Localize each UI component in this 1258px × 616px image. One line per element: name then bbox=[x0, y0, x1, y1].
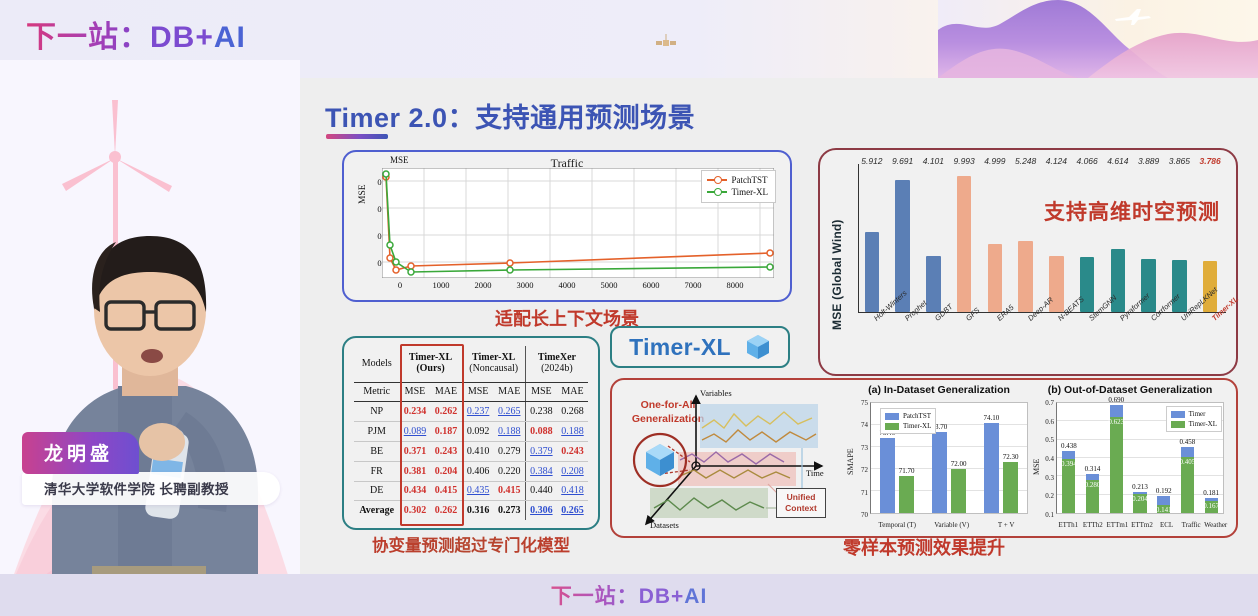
traffic-xtick: 3000 bbox=[510, 280, 540, 290]
bar bbox=[951, 469, 967, 513]
traffic-xtick: 5000 bbox=[594, 280, 624, 290]
table-row: NP0.2340.2620.2370.2650.2380.268 bbox=[354, 402, 588, 422]
wind-bar-value: 9.993 bbox=[953, 156, 974, 166]
wind-x-label: UniRepLKNet bbox=[1168, 314, 1192, 368]
wind-x-label: Holt-Winters bbox=[860, 314, 884, 368]
caption-table: 协变量预测超过专门化模型 bbox=[336, 532, 606, 558]
y-tick-label: 0.5 bbox=[1034, 436, 1054, 444]
cube-icon bbox=[745, 333, 771, 361]
bar-value-timer: 0.192 bbox=[1150, 487, 1177, 495]
wind-bar-value: 4.124 bbox=[1046, 156, 1067, 166]
bar-value-timerxl: 0.405 bbox=[1174, 458, 1201, 466]
y-tick-label: 0.3 bbox=[1034, 474, 1054, 482]
table-row: PJM0.0890.1870.0920.1880.0880.188 bbox=[354, 422, 588, 442]
timer-xl-badge-label: Timer-XL bbox=[629, 334, 731, 361]
wind-x-label: Pyraformer bbox=[1106, 314, 1130, 368]
y-tick-label: 73 bbox=[848, 444, 868, 452]
bar bbox=[984, 423, 1000, 513]
table-metric-row: MetricMSEMAEMSEMAEMSEMAE bbox=[354, 382, 588, 402]
table-cell: 0.268 bbox=[557, 402, 588, 422]
bar-value-timerxl: 0.280 bbox=[1079, 481, 1106, 489]
table-cell: 0.188 bbox=[494, 422, 526, 442]
bar bbox=[932, 432, 948, 513]
wind-bar-value: 4.101 bbox=[923, 156, 944, 166]
event-logo-bottom: 下一站：DB+AI bbox=[551, 580, 708, 610]
unified-line2: Context bbox=[785, 503, 817, 513]
traffic-xtick: 0 bbox=[385, 280, 415, 290]
table-row-label: NP bbox=[354, 402, 399, 422]
table-cell: 0.237 bbox=[462, 402, 494, 422]
y-tick-label: 71 bbox=[848, 489, 868, 497]
traffic-xtick: 1000 bbox=[426, 280, 456, 290]
speaker-name: 龙明盛 bbox=[22, 432, 139, 474]
mountain-decoration bbox=[938, 0, 1258, 78]
table-cell: 0.406 bbox=[462, 461, 494, 481]
table-metric-label: Metric bbox=[354, 382, 399, 402]
logo-text-ai: AI bbox=[214, 21, 246, 54]
in-dataset-title: (a) In-Dataset Generalization bbox=[844, 384, 1034, 396]
in-dataset-legend: PatchTST Timer-XL bbox=[880, 408, 936, 434]
in-dataset-chart: (a) In-Dataset Generalization SMAPE 73.4… bbox=[844, 384, 1034, 536]
wind-bar-value: 3.786 bbox=[1199, 156, 1220, 166]
table-cell: 0.379 bbox=[525, 441, 557, 461]
wind-bar: 3.865 bbox=[1168, 168, 1192, 312]
table-cell: 0.265 bbox=[557, 501, 588, 520]
results-table-panel: ModelsTimer-XL(Ours)Timer-XL(Noncausal)T… bbox=[342, 336, 600, 530]
table-header-group: Timer-XL(Noncausal) bbox=[462, 346, 525, 382]
table-cell: 0.238 bbox=[525, 402, 557, 422]
y-tick-label: 72 bbox=[848, 466, 868, 474]
timer-xl-badge[interactable]: Timer-XL bbox=[610, 326, 790, 368]
unified-context-box: Unified Context bbox=[776, 488, 826, 518]
wind-bar-rect bbox=[865, 232, 880, 312]
y-tick-label: 70 bbox=[848, 511, 868, 519]
wind-bar-value: 4.066 bbox=[1076, 156, 1097, 166]
unified-line1: Unified bbox=[787, 492, 816, 502]
wind-bar-rect bbox=[1018, 241, 1033, 312]
legend-swatch-timerxl bbox=[885, 423, 899, 430]
table-cell: 0.220 bbox=[494, 461, 526, 481]
y-tick-label: 0.2 bbox=[1034, 492, 1054, 500]
table-metric-header: MSE bbox=[525, 382, 557, 402]
logo-text-plus: + bbox=[195, 21, 214, 54]
bar-value-timer: 0.213 bbox=[1127, 483, 1154, 491]
bar-value: 71.70 bbox=[890, 467, 924, 475]
table-row-label: FR bbox=[354, 461, 399, 481]
one-for-all-diagram: One-for-All Generalization bbox=[616, 384, 840, 534]
table-metric-header: MSE bbox=[462, 382, 494, 402]
wind-bar: 4.066 bbox=[1075, 168, 1099, 312]
table-cell: 0.243 bbox=[430, 441, 462, 461]
table-cell: 0.273 bbox=[494, 501, 526, 520]
wind-bar-value: 5.912 bbox=[861, 156, 882, 166]
traffic-y-caption: MSE bbox=[390, 155, 409, 165]
table-row: FR0.3810.2040.4060.2200.3840.208 bbox=[354, 461, 588, 481]
table-cell: 0.302 bbox=[399, 501, 430, 520]
legend-swatch-timerxl bbox=[1171, 421, 1185, 428]
legend-label-patchtst: PatchTST bbox=[903, 411, 931, 421]
wind-bar-rect bbox=[957, 176, 972, 312]
out-of-dataset-chart: (b) Out-of-Dataset Generalization MSE 0.… bbox=[1030, 384, 1230, 536]
bar-value-timer: 0.438 bbox=[1056, 442, 1083, 450]
speaker-video bbox=[0, 60, 300, 616]
table-row-label: PJM bbox=[354, 422, 399, 442]
presentation-slide: Timer 2.0：支持通用预测场景 Traffic MSE MSE 0.7 0… bbox=[300, 78, 1258, 574]
airplane-icon bbox=[1113, 8, 1153, 26]
wind-bars: 5.9129.6914.1019.9934.9995.2484.1244.066… bbox=[860, 168, 1222, 312]
traffic-xtick: 7000 bbox=[678, 280, 708, 290]
bar-value-timerxl: 0.204 bbox=[1127, 495, 1154, 503]
traffic-chart-panel: Traffic MSE MSE 0.7 0.6 0.5 0.4 0 1000 2… bbox=[342, 150, 792, 302]
screen: 下一站：DB+AI 龙明盛 清华大学软件学院 长聘副教授 Timer 2.0：支… bbox=[0, 0, 1258, 616]
table-header-group: Timer-XL(Ours) bbox=[399, 346, 462, 382]
wind-bar-value: 9.691 bbox=[892, 156, 913, 166]
results-table: ModelsTimer-XL(Ours)Timer-XL(Noncausal)T… bbox=[354, 346, 588, 520]
wind-y-axis-label: MSE (Global Wind) bbox=[830, 219, 844, 330]
table-cell: 0.384 bbox=[525, 461, 557, 481]
slide-title: Timer 2.0：支持通用预测场景 bbox=[325, 96, 695, 135]
wind-x-label: ERA5 bbox=[983, 314, 1007, 368]
gridline bbox=[1057, 475, 1223, 476]
table-row: DE0.4340.4150.4350.4150.4400.418 bbox=[354, 481, 588, 501]
wind-x-label: Corrformer bbox=[1137, 314, 1161, 368]
table-cell: 0.434 bbox=[399, 481, 430, 501]
wind-x-label: N-BEATS bbox=[1045, 314, 1069, 368]
wind-bar-value: 3.865 bbox=[1169, 156, 1190, 166]
legend-swatch-patchtst bbox=[885, 413, 899, 420]
wind-plot-area: 5.9129.6914.1019.9934.9995.2484.1244.066… bbox=[860, 168, 1222, 312]
bar-value-timerxl: 0.623 bbox=[1103, 418, 1130, 426]
table-metric-header: MAE bbox=[430, 382, 462, 402]
wind-bar-rect bbox=[988, 244, 1003, 312]
wind-bar-value: 3.889 bbox=[1138, 156, 1159, 166]
x-tick-label: Variable (V) bbox=[929, 521, 975, 529]
bar-value: 74.10 bbox=[974, 414, 1008, 422]
logo-text-db: DB bbox=[150, 21, 195, 54]
ofa-axis-datasets: Datasets bbox=[650, 520, 679, 530]
table-header-models: Models bbox=[354, 346, 399, 382]
wind-x-label: Timer-XL bbox=[1198, 314, 1222, 368]
table-cell: 0.279 bbox=[494, 441, 526, 461]
traffic-xtick: 8000 bbox=[720, 280, 750, 290]
bar-value-timer: 0.181 bbox=[1198, 489, 1225, 497]
bar-value-timerxl: 0.141 bbox=[1150, 506, 1177, 514]
table-cell: 0.435 bbox=[462, 481, 494, 501]
ofa-axis-time: Time bbox=[806, 468, 824, 478]
bar bbox=[1003, 462, 1019, 513]
footer-logo-ai: AI bbox=[684, 585, 707, 608]
traffic-legend: PatchTST Timer-XL bbox=[701, 170, 777, 203]
footer-logo-db: DB bbox=[639, 585, 671, 608]
y-tick-label: 0.6 bbox=[1034, 418, 1054, 426]
traffic-y-axis-label: MSE bbox=[358, 184, 368, 204]
wind-x-label: GDBT bbox=[922, 314, 946, 368]
bar bbox=[880, 438, 896, 513]
y-tick-label: 75 bbox=[848, 399, 868, 407]
bar bbox=[899, 476, 915, 513]
table-metric-header: MAE bbox=[557, 382, 588, 402]
wind-bar: 4.101 bbox=[922, 168, 946, 312]
table-cell: 0.418 bbox=[557, 481, 588, 501]
footer-logo-cn: 下一站： bbox=[551, 585, 639, 608]
table-cell: 0.234 bbox=[399, 402, 430, 422]
legend-label-timerxl: Timer-XL bbox=[732, 186, 769, 198]
legend-label-timerxl: Timer-XL bbox=[903, 421, 931, 431]
logo-text-cn: 下一站： bbox=[26, 21, 150, 54]
speaker-nameplate: 龙明盛 清华大学软件学院 长聘副教授 bbox=[22, 432, 282, 505]
table-cell: 0.415 bbox=[430, 481, 462, 501]
table-cell: 0.371 bbox=[399, 441, 430, 461]
table-cell: 0.088 bbox=[525, 422, 557, 442]
legend-label-timer: Timer bbox=[1189, 409, 1206, 419]
satellite-icon bbox=[655, 34, 677, 52]
x-tick-label: Weather bbox=[1193, 521, 1239, 529]
wind-x-labels: Holt-WintersProphetGDBTGFSERA5Deep-ARN-B… bbox=[860, 314, 1222, 368]
legend-swatch-patchtst bbox=[707, 179, 727, 181]
zeroshot-panel: One-for-All Generalization bbox=[610, 378, 1238, 538]
table-cell: 0.089 bbox=[399, 422, 430, 442]
wind-bar: 4.999 bbox=[983, 168, 1007, 312]
wind-y-axis bbox=[858, 164, 859, 313]
table-row: BE0.3710.2430.4100.2790.3790.243 bbox=[354, 441, 588, 461]
footer-logo-plus: + bbox=[671, 585, 684, 608]
table-cell: 0.204 bbox=[430, 461, 462, 481]
table-cell: 0.316 bbox=[462, 501, 494, 520]
wind-bar: 4.614 bbox=[1106, 168, 1130, 312]
legend-label-patchtst: PatchTST bbox=[732, 174, 768, 186]
wind-bar: 4.124 bbox=[1045, 168, 1069, 312]
event-logo-top: 下一站：DB+AI bbox=[26, 12, 246, 56]
x-tick-label: T + V bbox=[983, 521, 1029, 529]
table-cell: 0.265 bbox=[494, 402, 526, 422]
table-row-label: BE bbox=[354, 441, 399, 461]
bar-timerxl bbox=[1110, 417, 1123, 513]
table-cell: 0.208 bbox=[557, 461, 588, 481]
bar-value-timerxl: 0.394 bbox=[1056, 460, 1083, 468]
table-row-label: DE bbox=[354, 481, 399, 501]
bar-value-timer: 0.690 bbox=[1103, 396, 1130, 404]
wind-x-label: Prophet bbox=[891, 314, 915, 368]
y-tick-label: 74 bbox=[848, 421, 868, 429]
table-row: Average0.3020.2620.3160.2730.3060.265 bbox=[354, 501, 588, 520]
table-cell: 0.306 bbox=[525, 501, 557, 520]
table-cell: 0.415 bbox=[494, 481, 526, 501]
bar-value: 72.00 bbox=[942, 460, 976, 468]
x-tick-label: Temporal (T) bbox=[874, 521, 920, 529]
table-metric-header: MSE bbox=[399, 382, 430, 402]
wind-x-label: GFS bbox=[952, 314, 976, 368]
wind-bar-value: 5.248 bbox=[1015, 156, 1036, 166]
bar-value-timer: 0.458 bbox=[1174, 438, 1201, 446]
wind-x-label: Deep-AR bbox=[1014, 314, 1038, 368]
table-metric-header: MAE bbox=[494, 382, 526, 402]
traffic-xtick: 6000 bbox=[636, 280, 666, 290]
speaker-affiliation: 清华大学软件学院 长聘副教授 bbox=[22, 472, 280, 505]
y-tick-label: 0.1 bbox=[1034, 511, 1054, 519]
y-tick-label: 0.4 bbox=[1034, 455, 1054, 463]
table-cell: 0.092 bbox=[462, 422, 494, 442]
ofa-axis-variables: Variables bbox=[700, 388, 732, 398]
table-cell: 0.188 bbox=[557, 422, 588, 442]
table-header-row: ModelsTimer-XL(Ours)Timer-XL(Noncausal)T… bbox=[354, 346, 588, 382]
bar-value-timer: 0.314 bbox=[1079, 465, 1106, 473]
caption-zeroshot: 零样本预测效果提升 bbox=[610, 534, 1238, 562]
wind-bar-rect bbox=[926, 256, 941, 312]
traffic-xtick: 2000 bbox=[468, 280, 498, 290]
title-underline bbox=[326, 134, 388, 139]
table-cell: 0.187 bbox=[430, 422, 462, 442]
out-of-dataset-legend: Timer Timer-XL bbox=[1166, 406, 1222, 432]
legend-swatch-timer bbox=[1171, 411, 1185, 418]
table-cell: 0.262 bbox=[430, 501, 462, 520]
out-of-dataset-title: (b) Out-of-Dataset Generalization bbox=[1030, 384, 1230, 396]
table-cell: 0.262 bbox=[430, 402, 462, 422]
wind-bar-value: 4.999 bbox=[984, 156, 1005, 166]
legend-swatch-timerxl bbox=[707, 191, 727, 193]
legend-label-timerxl: Timer-XL bbox=[1189, 419, 1217, 429]
wind-x-label: StemGNN bbox=[1075, 314, 1099, 368]
wind-bar-value: 4.614 bbox=[1107, 156, 1128, 166]
table-cell: 0.243 bbox=[557, 441, 588, 461]
footer-bar: 下一站：DB+AI bbox=[0, 574, 1258, 616]
bar-value-timerxl: 0.167 bbox=[1198, 502, 1225, 510]
wind-bar: 3.889 bbox=[1137, 168, 1161, 312]
table-header-group: TimeXer(2024b) bbox=[525, 346, 588, 382]
table-cell: 0.410 bbox=[462, 441, 494, 461]
table-row-label: Average bbox=[354, 501, 399, 520]
table-cell: 0.440 bbox=[525, 481, 557, 501]
bar-value: 72.30 bbox=[994, 453, 1028, 461]
traffic-xtick: 4000 bbox=[552, 280, 582, 290]
wind-bar: 5.912 bbox=[860, 168, 884, 312]
wind-bar: 9.993 bbox=[952, 168, 976, 312]
y-tick-label: 0.7 bbox=[1034, 399, 1054, 407]
table-cell: 0.381 bbox=[399, 461, 430, 481]
wind-bar: 5.248 bbox=[1014, 168, 1038, 312]
wind-chart-panel: MSE (Global Wind) 支持高维时空预测 5.9129.6914.1… bbox=[818, 148, 1238, 376]
